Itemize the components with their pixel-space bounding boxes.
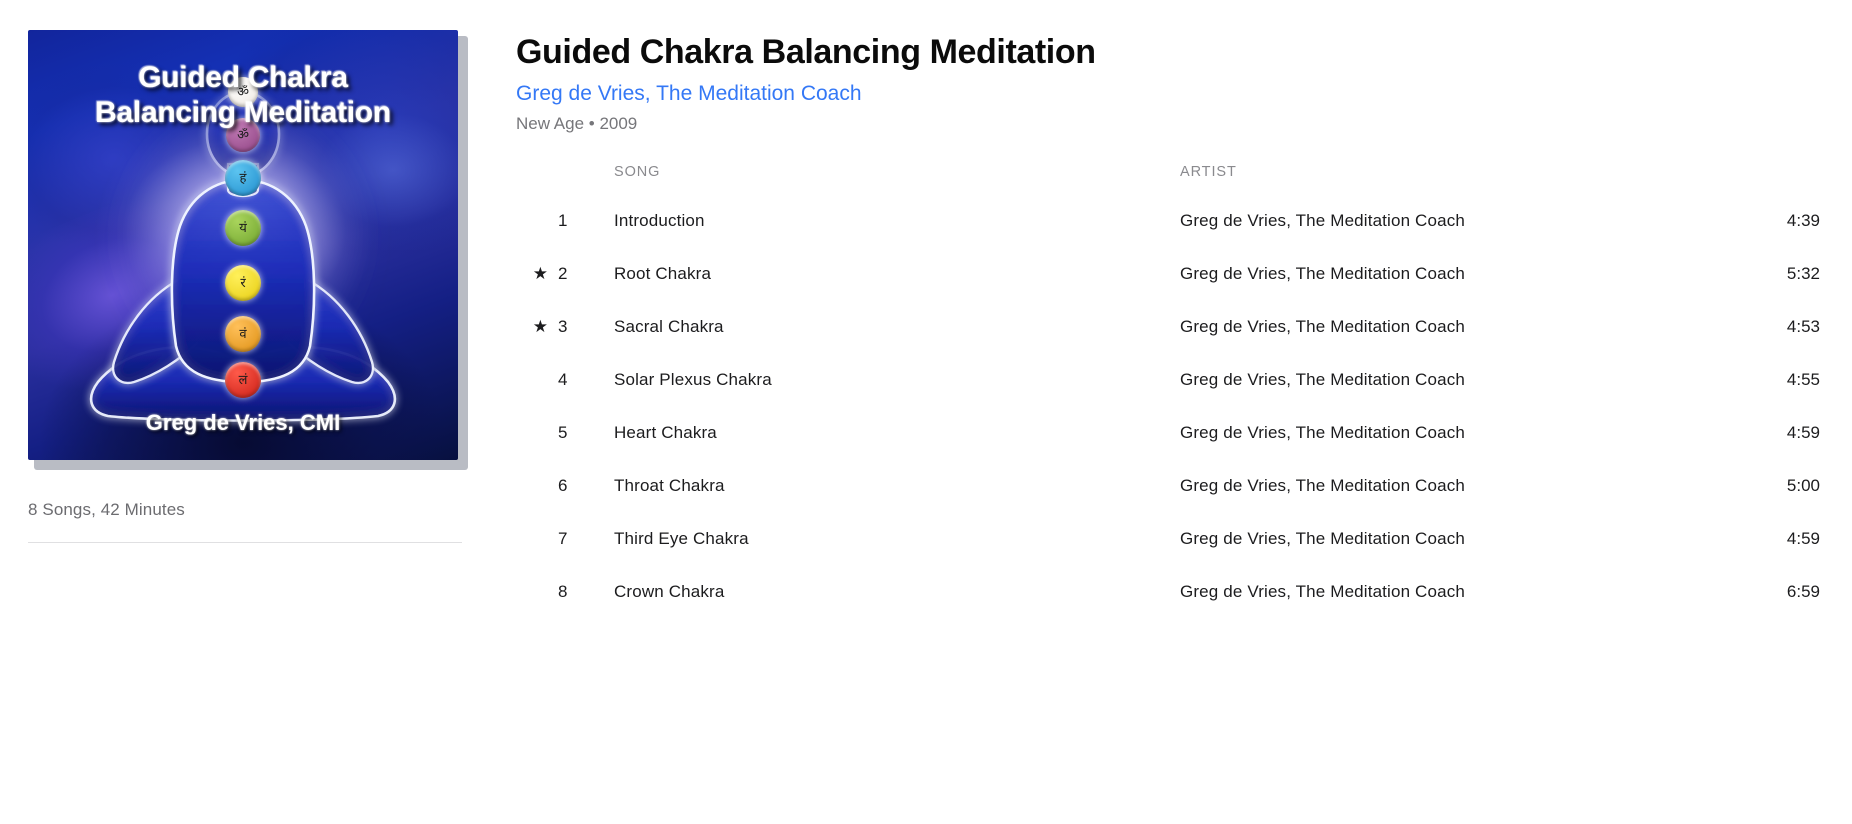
favorite-star-placeholder[interactable] [516, 460, 558, 513]
chakra-sacral: वं [225, 316, 261, 352]
favorite-star-placeholder[interactable] [516, 407, 558, 460]
track-duration: 4:39 [1742, 195, 1822, 248]
track-title[interactable]: Sacral Chakra [598, 301, 1178, 354]
track-artist: Greg de Vries, The Meditation Coach [1178, 195, 1742, 248]
th-duration [1742, 164, 1822, 195]
chakra-solar-plexus: रं [225, 265, 261, 301]
track-duration: 4:59 [1742, 407, 1822, 460]
track-duration: 5:32 [1742, 248, 1822, 301]
table-row[interactable]: 8Crown ChakraGreg de Vries, The Meditati… [516, 566, 1822, 619]
track-artist: Greg de Vries, The Meditation Coach [1178, 354, 1742, 407]
artwork-title: Guided Chakra Balancing Meditation [28, 60, 458, 131]
th-number [558, 164, 598, 195]
th-star [516, 164, 558, 195]
track-artist: Greg de Vries, The Meditation Coach [1178, 301, 1742, 354]
track-title[interactable]: Throat Chakra [598, 460, 1178, 513]
th-artist[interactable]: ARTIST [1178, 164, 1742, 195]
chakra-root: लं [225, 362, 261, 398]
track-list-header: SONG ARTIST [516, 164, 1822, 195]
track-number: 4 [558, 354, 598, 407]
favorite-star-placeholder[interactable] [516, 513, 558, 566]
favorite-star-placeholder[interactable] [516, 566, 558, 619]
track-title[interactable]: Crown Chakra [598, 566, 1178, 619]
track-number: 3 [558, 301, 598, 354]
track-artist: Greg de Vries, The Meditation Coach [1178, 513, 1742, 566]
album-artist-link[interactable]: Greg de Vries, The Meditation Coach [516, 81, 1822, 106]
chakra-throat: हं [225, 160, 261, 196]
album-content-column: Guided Chakra Balancing Meditation Greg … [516, 32, 1822, 618]
track-number: 1 [558, 195, 598, 248]
album-genre-year: New Age • 2009 [516, 114, 1822, 134]
album-artwork[interactable]: ॐ ॐ हं यं रं वं लं Guided Chakra Balanci… [28, 30, 462, 464]
track-duration: 6:59 [1742, 566, 1822, 619]
track-number: 8 [558, 566, 598, 619]
track-artist: Greg de Vries, The Meditation Coach [1178, 407, 1742, 460]
album-title: Guided Chakra Balancing Meditation [516, 32, 1822, 73]
table-row[interactable]: 1IntroductionGreg de Vries, The Meditati… [516, 195, 1822, 248]
album-info-column: ॐ ॐ हं यं रं वं लं Guided Chakra Balanci… [28, 30, 462, 543]
table-row[interactable]: 7Third Eye ChakraGreg de Vries, The Medi… [516, 513, 1822, 566]
track-duration: 5:00 [1742, 460, 1822, 513]
track-number: 5 [558, 407, 598, 460]
favorite-star-placeholder[interactable] [516, 354, 558, 407]
album-detail-page: ॐ ॐ हं यं रं वं लं Guided Chakra Balanci… [0, 0, 1852, 824]
track-title[interactable]: Third Eye Chakra [598, 513, 1178, 566]
track-title[interactable]: Root Chakra [598, 248, 1178, 301]
track-list-body: 1IntroductionGreg de Vries, The Meditati… [516, 195, 1822, 619]
track-title[interactable]: Solar Plexus Chakra [598, 354, 1178, 407]
table-row[interactable]: ★3Sacral ChakraGreg de Vries, The Medita… [516, 301, 1822, 354]
artwork-canvas: ॐ ॐ हं यं रं वं लं Guided Chakra Balanci… [28, 30, 458, 460]
table-row[interactable]: ★2Root ChakraGreg de Vries, The Meditati… [516, 248, 1822, 301]
favorite-star-icon[interactable]: ★ [516, 301, 558, 354]
track-number: 6 [558, 460, 598, 513]
songs-summary: 8 Songs, 42 Minutes [28, 500, 462, 520]
table-row[interactable]: 4Solar Plexus ChakraGreg de Vries, The M… [516, 354, 1822, 407]
track-artist: Greg de Vries, The Meditation Coach [1178, 566, 1742, 619]
chakra-heart: यं [225, 210, 261, 246]
left-divider [28, 542, 462, 543]
artwork-title-line2: Balancing Meditation [95, 96, 391, 129]
favorite-star-icon[interactable]: ★ [516, 248, 558, 301]
table-row[interactable]: 5Heart ChakraGreg de Vries, The Meditati… [516, 407, 1822, 460]
artwork-credit: Greg de Vries, CMI [28, 410, 458, 436]
track-title[interactable]: Heart Chakra [598, 407, 1178, 460]
track-list-table: SONG ARTIST 1IntroductionGreg de Vries, … [516, 164, 1822, 618]
track-artist: Greg de Vries, The Meditation Coach [1178, 460, 1742, 513]
track-number: 2 [558, 248, 598, 301]
track-artist: Greg de Vries, The Meditation Coach [1178, 248, 1742, 301]
artwork-title-line1: Guided Chakra [138, 61, 347, 94]
favorite-star-placeholder[interactable] [516, 195, 558, 248]
track-duration: 4:53 [1742, 301, 1822, 354]
table-row[interactable]: 6Throat ChakraGreg de Vries, The Meditat… [516, 460, 1822, 513]
track-number: 7 [558, 513, 598, 566]
track-duration: 4:55 [1742, 354, 1822, 407]
track-duration: 4:59 [1742, 513, 1822, 566]
track-title[interactable]: Introduction [598, 195, 1178, 248]
th-song[interactable]: SONG [598, 164, 1178, 195]
